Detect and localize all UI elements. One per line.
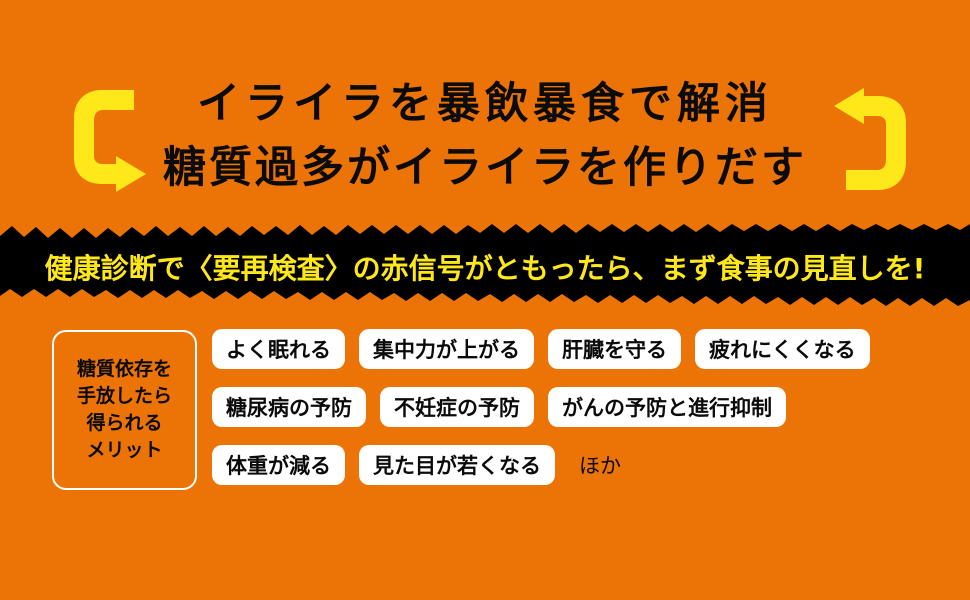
benefit-pill-rows: よく眠れる 集中力が上がる 肝臓を守る 疲れにくくなる 糖尿病の予防 不妊症の予… bbox=[212, 328, 962, 502]
benefit-pill: 肝臓を守る bbox=[548, 329, 681, 369]
benefit-pill: 不妊症の予防 bbox=[380, 387, 534, 427]
benefit-pill: 見た目が若くなる bbox=[359, 445, 555, 485]
benefit-row-2: 糖尿病の予防 不妊症の予防 がんの予防と進行抑制 bbox=[212, 386, 962, 428]
merit-label-line-1: 糖質依存を bbox=[77, 356, 172, 383]
benefit-pill: 疲れにくくなる bbox=[695, 329, 870, 369]
benefit-pill: 集中力が上がる bbox=[359, 329, 534, 369]
benefits-section: 糖質依存を 手放したら 得られる メリット よく眠れる 集中力が上がる 肝臓を守… bbox=[0, 328, 970, 508]
benefit-pill: 糖尿病の予防 bbox=[212, 387, 366, 427]
merit-label-line-2: 手放したら bbox=[77, 383, 172, 410]
benefit-suffix-label: ほか bbox=[579, 450, 621, 480]
merit-label-line-4: メリット bbox=[86, 437, 162, 464]
headline-line-2: 糖質過多がイライラを作りだす bbox=[125, 136, 845, 200]
headline-text: イライラを暴飲暴食で解消 糖質過多がイライラを作りだす bbox=[125, 72, 845, 200]
banner-text: 健康診断で〈要再検査〉の赤信号がともったら、まず食事の見直しを! bbox=[0, 224, 970, 306]
merit-label-line-3: 得られる bbox=[86, 410, 162, 437]
merit-label-box: 糖質依存を 手放したら 得られる メリット bbox=[52, 330, 197, 490]
benefit-row-1: よく眠れる 集中力が上がる 肝臓を守る 疲れにくくなる bbox=[212, 328, 962, 370]
arrow-bracket-left-icon bbox=[72, 88, 148, 192]
benefit-pill: 体重が減る bbox=[212, 445, 345, 485]
benefit-pill: がんの予防と進行抑制 bbox=[548, 387, 786, 427]
benefit-pill: よく眠れる bbox=[212, 329, 345, 369]
headline-line-1: イライラを暴飲暴食で解消 bbox=[125, 72, 845, 136]
alert-banner: 健康診断で〈要再検査〉の赤信号がともったら、まず食事の見直しを! bbox=[0, 224, 970, 306]
poster-root: イライラを暴飲暴食で解消 糖質過多がイライラを作りだす 健康診断で〈要再検査〉の… bbox=[0, 0, 970, 600]
arrow-bracket-right-icon bbox=[832, 88, 908, 192]
benefit-row-3: 体重が減る 見た目が若くなる ほか bbox=[212, 444, 962, 486]
